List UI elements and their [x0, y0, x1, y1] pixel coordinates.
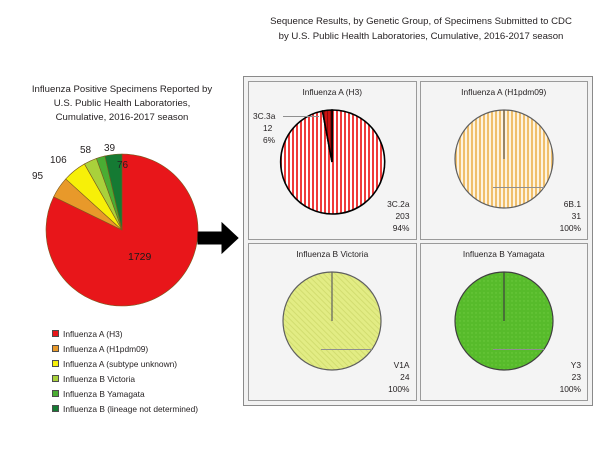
callout-v1a-count: 24	[388, 371, 409, 383]
pie-label-subtype-unknown: 106	[50, 155, 67, 166]
pie-influenza-a-h1pdm09	[451, 106, 557, 217]
pie-svg-influenza-b-victoria	[279, 268, 385, 374]
main-title: Sequence Results, by Genetic Group, of S…	[248, 14, 594, 44]
callout-3c2a-percent: 94%	[387, 222, 409, 234]
pie-influenza-b-victoria	[279, 268, 385, 379]
main-title-line-1: Sequence Results, by Genetic Group, of S…	[248, 14, 594, 29]
pie-svg-influenza-a-h3	[276, 106, 388, 218]
callout-3c3a-count: 12	[253, 122, 275, 134]
legend-item-h1pdm09[interactable]: Influenza A (H1pdm09)	[52, 341, 242, 356]
callout-y3-name: Y3	[560, 359, 581, 371]
legend: Influenza A (H3) Influenza A (H1pdm09) I…	[52, 326, 242, 416]
legend-item-b-lineage-not-determined[interactable]: Influenza B (lineage not determined)	[52, 401, 242, 416]
panel-title-influenza-a-h3: Influenza A (H3)	[249, 87, 416, 97]
pie-influenza-b-yamagata	[451, 268, 557, 379]
left-chart-title-line-2: U.S. Public Health Laboratories,	[8, 97, 236, 111]
legend-item-h3[interactable]: Influenza A (H3)	[52, 326, 242, 341]
pie-svg-influenza-a-h1pdm09	[451, 106, 557, 212]
callout-leader-v1a	[321, 349, 373, 350]
legend-swatch-subtype-unknown	[52, 360, 59, 367]
legend-label-b-yamagata: Influenza B Yamagata	[63, 389, 145, 399]
legend-label-subtype-unknown: Influenza A (subtype unknown)	[63, 359, 177, 369]
legend-item-b-victoria[interactable]: Influenza B Victoria	[52, 371, 242, 386]
panel-title-influenza-b-yamagata: Influenza B Yamagata	[421, 249, 588, 259]
callout-3c3a: 3C.3a 12 6%	[253, 110, 275, 146]
panel-influenza-b-victoria: Influenza B Victoria	[248, 243, 417, 402]
genetic-group-panel-grid: Influenza A (H3)	[243, 76, 593, 406]
callout-6b1-percent: 100%	[560, 222, 581, 234]
callout-6b1-count: 31	[560, 210, 581, 222]
pie-label-b-lineage-not-determined: 76	[117, 160, 128, 171]
chart-canvas: Sequence Results, by Genetic Group, of S…	[0, 0, 600, 450]
legend-swatch-h3	[52, 330, 59, 337]
legend-label-b-victoria: Influenza B Victoria	[63, 374, 135, 384]
panel-influenza-b-yamagata: Influenza B Yamagata	[420, 243, 589, 402]
callout-y3: Y3 23 100%	[560, 359, 581, 395]
legend-swatch-b-lineage-not-determined	[52, 405, 59, 412]
panel-title-influenza-b-victoria: Influenza B Victoria	[249, 249, 416, 259]
legend-item-subtype-unknown[interactable]: Influenza A (subtype unknown)	[52, 356, 242, 371]
callout-y3-percent: 100%	[560, 383, 581, 395]
callout-v1a-percent: 100%	[388, 383, 409, 395]
legend-swatch-b-victoria	[52, 375, 59, 382]
callout-3c2a-count: 203	[387, 210, 409, 222]
left-chart-title-line-3: Cumulative, 2016-2017 season	[8, 111, 236, 125]
legend-label-h3: Influenza A (H3)	[63, 329, 123, 339]
callout-3c3a-percent: 6%	[253, 134, 275, 146]
callout-y3-count: 23	[560, 371, 581, 383]
right-arrow-svg	[196, 221, 240, 255]
pie-svg-influenza-b-yamagata	[451, 268, 557, 374]
left-chart-title-line-1: Influenza Positive Specimens Reported by	[8, 83, 236, 97]
pie-influenza-a-h3	[276, 106, 388, 223]
callout-v1a: V1A 24 100%	[388, 359, 409, 395]
overview-pie-svg	[42, 150, 202, 310]
callout-leader-3c3a	[283, 116, 319, 117]
legend-swatch-h1pdm09	[52, 345, 59, 352]
legend-label-h1pdm09: Influenza A (H1pdm09)	[63, 344, 148, 354]
callout-leader-y3	[493, 349, 545, 350]
pie-label-h1pdm09: 95	[32, 171, 43, 182]
pie-label-h3: 1729	[128, 251, 151, 263]
panel-title-influenza-a-h1pdm09: Influenza A (H1pdm09)	[421, 87, 588, 97]
right-arrow-icon	[196, 221, 240, 255]
callout-3c3a-name: 3C.3a	[253, 110, 275, 122]
callout-6b1: 6B.1 31 100%	[560, 198, 581, 234]
legend-label-b-lineage-not-determined: Influenza B (lineage not determined)	[63, 404, 198, 414]
overview-pie-chart	[42, 150, 202, 310]
callout-3c2a: 3C.2a 203 94%	[387, 198, 409, 234]
callout-v1a-name: V1A	[388, 359, 409, 371]
legend-item-b-yamagata[interactable]: Influenza B Yamagata	[52, 386, 242, 401]
panel-influenza-a-h1pdm09: Influenza A (H1pdm09)	[420, 81, 589, 240]
panel-influenza-a-h3: Influenza A (H3)	[248, 81, 417, 240]
callout-3c2a-name: 3C.2a	[387, 198, 409, 210]
pie-label-b-yamagata: 39	[104, 143, 115, 154]
main-title-line-2: by U.S. Public Health Laboratories, Cumu…	[248, 29, 594, 44]
pie-label-b-victoria: 58	[80, 145, 91, 156]
callout-leader-6b1	[493, 187, 545, 188]
callout-6b1-name: 6B.1	[560, 198, 581, 210]
legend-swatch-b-yamagata	[52, 390, 59, 397]
left-chart-title: Influenza Positive Specimens Reported by…	[8, 83, 236, 125]
